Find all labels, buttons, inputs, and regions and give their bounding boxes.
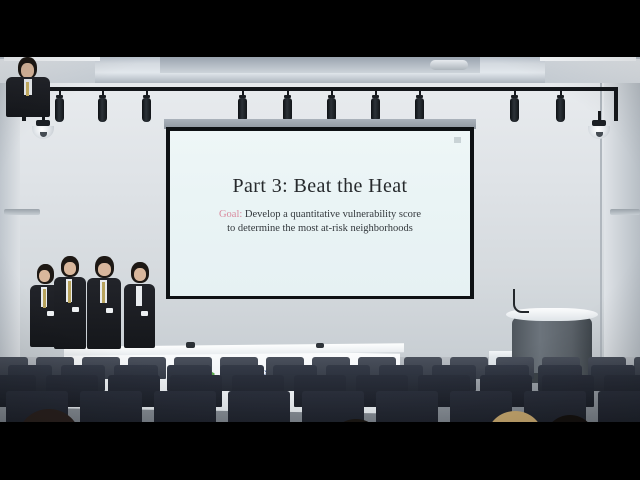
spotlight-8 bbox=[415, 90, 424, 122]
letterbox-bottom bbox=[0, 422, 640, 480]
ceiling-vent bbox=[430, 60, 468, 70]
wall-fixture-right bbox=[610, 209, 640, 215]
lighting-track bbox=[22, 87, 618, 91]
spotlight-10 bbox=[556, 90, 565, 122]
projection-screen: Part 3: Beat the Heat Goal: Develop a qu… bbox=[166, 127, 474, 299]
spotlight-6 bbox=[327, 90, 336, 122]
slide-title: Part 3: Beat the Heat bbox=[170, 175, 470, 198]
table-microphone-right bbox=[316, 343, 324, 348]
slide-content: Part 3: Beat the Heat Goal: Develop a qu… bbox=[170, 175, 470, 236]
table-microphone-left bbox=[186, 342, 195, 348]
ceiling-light-strip-left bbox=[4, 57, 100, 61]
spotlight-5 bbox=[283, 90, 292, 122]
lecture-hall-scene: Part 3: Beat the Heat Goal: Develop a qu… bbox=[0, 57, 640, 422]
wall-fixture-left bbox=[4, 209, 40, 215]
audience-chair bbox=[302, 391, 364, 422]
spotlight-2 bbox=[98, 90, 107, 122]
slide-goal-text: Develop a quantitative vulnerability sco… bbox=[245, 209, 421, 220]
left-wall bbox=[0, 83, 20, 358]
spotlight-9 bbox=[510, 90, 519, 122]
video-frame-stage: Part 3: Beat the Heat Goal: Develop a qu… bbox=[0, 0, 640, 480]
letterbox-top bbox=[0, 0, 640, 57]
slide-corner-mark bbox=[454, 137, 461, 143]
dome-camera-icon-right bbox=[588, 111, 610, 137]
audience-chair bbox=[80, 391, 142, 422]
slide-goal-label: Goal: bbox=[219, 209, 242, 220]
slide-surface: Part 3: Beat the Heat Goal: Develop a qu… bbox=[170, 131, 470, 296]
audience-chair bbox=[228, 391, 290, 422]
slide-subtitle: Goal: Develop a quantitative vulnerabili… bbox=[170, 208, 470, 236]
spotlight-3 bbox=[142, 90, 151, 122]
slide-subtitle-line2: to determine the most at-risk neighborho… bbox=[227, 223, 413, 234]
audience-chair bbox=[598, 391, 640, 422]
ceiling-panel-right bbox=[545, 59, 640, 83]
audience-chair bbox=[154, 391, 216, 422]
lighting-track-drop-right bbox=[614, 87, 618, 121]
audience-chair bbox=[376, 391, 438, 422]
spotlight-1 bbox=[55, 90, 64, 122]
spotlight-7 bbox=[371, 90, 380, 122]
spotlight-4 bbox=[238, 90, 247, 122]
ceiling-light-strip-right bbox=[540, 57, 636, 61]
podium-microphone bbox=[513, 289, 529, 313]
